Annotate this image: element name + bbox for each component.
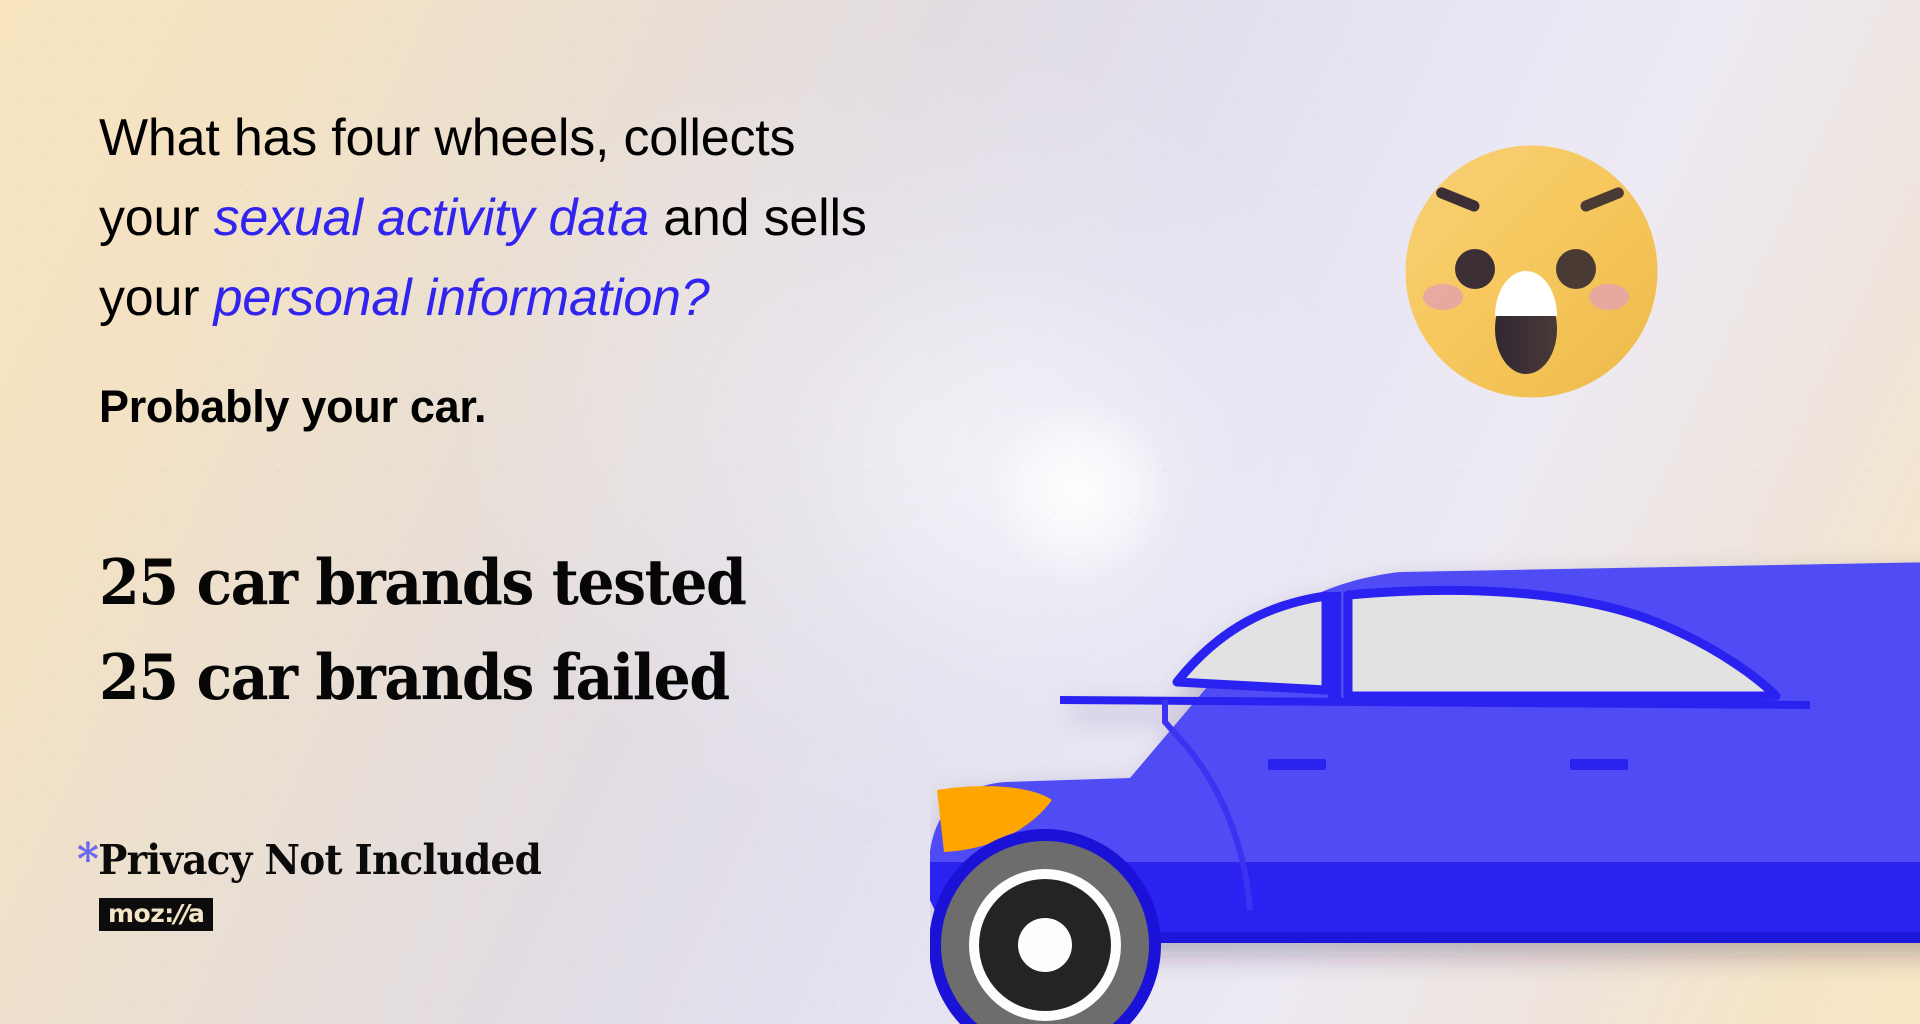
footer: *Privacy Not Included moz://a: [77, 838, 565, 931]
emoji-eye-left: [1455, 249, 1495, 289]
car-window-pillar: [1328, 592, 1341, 700]
mozilla-logo-suffix: a: [188, 899, 204, 928]
car-door-handle-rear: [1268, 759, 1326, 770]
car-rear-window: [1177, 596, 1326, 690]
emoji-blush-right: [1589, 284, 1629, 310]
blue-sedan-car: [930, 500, 1920, 1024]
wheel-hub: [1018, 918, 1072, 972]
headline-highlight-personal-information: personal information?: [214, 269, 710, 327]
mozilla-logo-prefix: moz:: [108, 899, 174, 928]
emoji-blush-left: [1423, 284, 1463, 310]
asterisk-icon: *: [77, 834, 98, 885]
privacy-not-included-wordmark: *Privacy Not Included: [77, 838, 541, 882]
car-beltline: [1060, 700, 1810, 705]
headline-highlight-sexual-activity-data: sexual activity data: [214, 189, 649, 247]
headline-line2-plain-a: your: [99, 189, 214, 247]
emoji-eye-right: [1556, 249, 1596, 289]
privacy-not-included-label: Privacy Not Included: [98, 836, 541, 884]
headline: What has four wheels, collects your sexu…: [99, 98, 1099, 338]
headline-line2-plain-b: and sells: [649, 189, 867, 247]
subheadline: Probably your car.: [99, 381, 486, 433]
stat-brands-tested: 25 car brands tested: [99, 545, 745, 619]
mozilla-logo-slash: //: [174, 899, 188, 928]
stat-brands-failed: 25 car brands failed: [99, 640, 729, 714]
headline-line3-plain: your: [99, 269, 214, 327]
car-door-handle-front: [1570, 759, 1628, 770]
mozilla-logo: moz://a: [99, 898, 213, 931]
headline-line1: What has four wheels, collects: [99, 109, 795, 167]
emoji-mouth: [1495, 271, 1557, 374]
astonished-face-emoji: [1404, 144, 1659, 399]
